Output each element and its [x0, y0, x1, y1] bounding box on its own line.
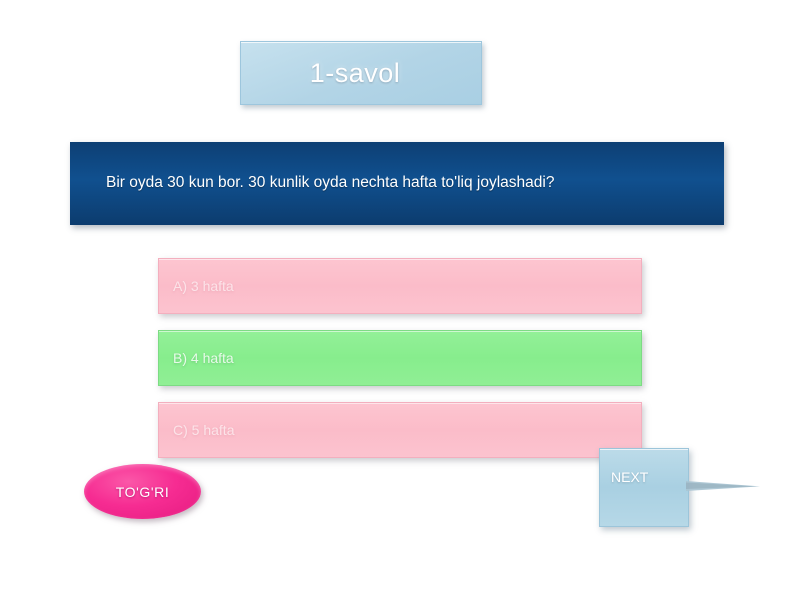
- slide-title-box: 1-savol: [240, 41, 482, 105]
- next-button-pointer-tail: [686, 481, 760, 491]
- answer-option-c[interactable]: C) 5 hafta: [158, 402, 642, 458]
- slide-title-text: 1-savol: [310, 58, 401, 89]
- next-button-label: NEXT: [611, 467, 653, 489]
- answer-option-a[interactable]: A) 3 hafta: [158, 258, 642, 314]
- answer-option-b[interactable]: B) 4 hafta: [158, 330, 642, 386]
- question-text: Bir oyda 30 kun bor. 30 kunlik oyda nech…: [70, 173, 572, 193]
- correct-feedback-badge: TO'G'RI: [84, 464, 201, 519]
- answer-option-a-label: A) 3 hafta: [159, 278, 234, 294]
- answer-option-b-label: B) 4 hafta: [159, 350, 234, 366]
- correct-feedback-badge-label: TO'G'RI: [116, 484, 170, 500]
- next-button[interactable]: NEXT: [599, 448, 689, 527]
- quiz-slide: 1-savol Bir oyda 30 kun bor. 30 kunlik o…: [0, 0, 800, 600]
- answer-option-c-label: C) 5 hafta: [159, 422, 234, 438]
- question-bar: Bir oyda 30 kun bor. 30 kunlik oyda nech…: [70, 142, 724, 225]
